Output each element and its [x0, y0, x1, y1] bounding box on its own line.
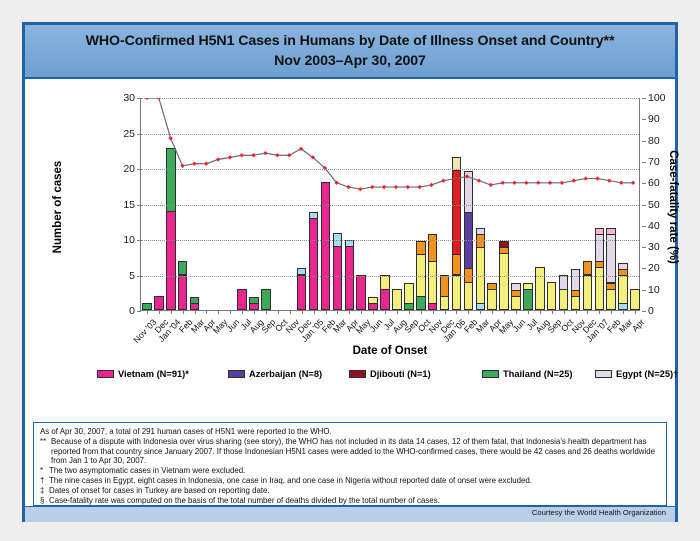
y-axis-right-label: Case-fatality rate (%): [667, 150, 679, 264]
footnote: *The two asymptomatic cases in Vietnam w…: [40, 466, 660, 476]
x-tick-mark: [409, 310, 410, 314]
footnote-marker: ‡: [40, 486, 49, 496]
legend-item[interactable]: Azerbaijan (N=8): [228, 366, 349, 382]
plot-area: Nov '03DecJan '04FebMarAprMayJunJulAugSe…: [140, 98, 640, 311]
y-tick-right: 100: [648, 92, 666, 104]
gridline: [141, 240, 639, 241]
x-tick-mark: [373, 310, 374, 314]
y-tick-left: 5: [129, 270, 135, 282]
legend-item[interactable]: Vietnam (N=91)*: [97, 366, 228, 382]
page-title: WHO-Confirmed H5N1 Cases in Humans by Da…: [25, 31, 675, 71]
x-tick-mark: [278, 310, 279, 314]
x-tick-mark: [552, 310, 553, 314]
x-tick-mark: [337, 310, 338, 314]
x-tick-mark: [599, 310, 600, 314]
x-tick-mark: [468, 310, 469, 314]
x-tick-mark: [326, 310, 327, 314]
x-tick-mark: [349, 310, 350, 314]
x-tick-mark: [314, 310, 315, 314]
x-tick-mark: [195, 310, 196, 314]
x-tick-mark: [445, 310, 446, 314]
footnote-marker: **: [40, 437, 51, 466]
gridline: [141, 134, 639, 135]
x-tick-mark: [230, 310, 231, 314]
y-tick-right: 0: [648, 305, 654, 317]
x-tick-mark: [183, 310, 184, 314]
title-band: WHO-Confirmed H5N1 Cases in Humans by Da…: [25, 25, 675, 79]
gridline: [141, 169, 639, 170]
y-tick-right: 50: [648, 199, 660, 211]
legend-label: Vietnam (N=91)*: [118, 369, 189, 379]
x-tick-mark: [302, 310, 303, 314]
x-tick-mark: [421, 310, 422, 314]
title-line-1: WHO-Confirmed H5N1 Cases in Humans by Da…: [86, 33, 615, 49]
x-tick-mark: [433, 310, 434, 314]
y-tick-left: 0: [129, 305, 135, 317]
x-tick-mark: [492, 310, 493, 314]
footnote: **Because of a dispute with Indonesia ov…: [40, 437, 660, 466]
chart-panel: Number of cases Case-fatality rate (%) D…: [25, 79, 675, 364]
legend: Vietnam (N=91)*Azerbaijan (N=8)Djibouti …: [25, 364, 675, 418]
footnote-marker: *: [40, 466, 49, 476]
legend-item[interactable]: Djibouti (N=1): [349, 366, 482, 382]
legend-swatch: [595, 370, 612, 379]
y-tick-right: 10: [648, 284, 660, 296]
legend-label: Egypt (N=25)†: [616, 369, 678, 379]
title-line-2: Nov 2003–Apr 30, 2007: [25, 51, 675, 71]
x-tick-mark: [266, 310, 267, 314]
y-tick-right: 40: [648, 220, 660, 232]
legend-label: Azerbaijan (N=8): [249, 369, 322, 379]
footnotes: As of Apr 30, 2007, a total of 291 human…: [33, 422, 667, 506]
gridline: [141, 98, 639, 99]
legend-item[interactable]: Thailand (N=25): [482, 366, 595, 382]
footnote-text: The two asymptomatic cases in Vietnam we…: [49, 466, 660, 476]
x-tick-mark: [635, 310, 636, 314]
footnote-text: Dates of onset for cases in Turkey are b…: [49, 486, 660, 496]
y-tick-right: 90: [648, 113, 660, 125]
x-tick-mark: [611, 310, 612, 314]
x-tick-mark: [456, 310, 457, 314]
gridline: [141, 205, 639, 206]
legend-item[interactable]: Egypt (N=25)†: [595, 366, 700, 382]
footnote: ‡Dates of onset for cases in Turkey are …: [40, 486, 660, 496]
y-tick-right: 70: [648, 156, 660, 168]
legend-swatch: [97, 370, 114, 379]
x-tick-mark: [540, 310, 541, 314]
x-tick-label: Nov '03: [131, 317, 158, 345]
gridline: [141, 276, 639, 277]
x-tick-mark: [587, 310, 588, 314]
legend-label: Thailand (N=25): [503, 369, 572, 379]
y-tick-left: 30: [123, 92, 135, 104]
x-tick-mark: [171, 310, 172, 314]
footnote-text: Case-fatality rate was computed on the b…: [49, 496, 660, 506]
footnote-marker: †: [40, 476, 49, 486]
footnote-text: The nine cases in Egypt, eight cases in …: [49, 476, 660, 486]
courtesy-credit: Courtesy the World Health Organization: [532, 508, 666, 517]
footnote: †The nine cases in Egypt, eight cases in…: [40, 476, 660, 486]
footnote: As of Apr 30, 2007, a total of 291 human…: [40, 427, 660, 437]
x-tick-mark: [564, 310, 565, 314]
x-tick-mark: [290, 310, 291, 314]
y-tick-left: 10: [123, 234, 135, 246]
footnote-marker: §: [40, 496, 49, 506]
y-tick-right: 20: [648, 262, 660, 274]
x-tick-mark: [623, 310, 624, 314]
x-tick-mark: [528, 310, 529, 314]
footnote-text: Because of a dispute with Indonesia over…: [51, 437, 660, 466]
infographic-page: WHO-Confirmed H5N1 Cases in Humans by Da…: [0, 0, 700, 541]
legend-swatch: [349, 370, 366, 379]
x-tick-label: Apr: [630, 317, 646, 334]
y-tick-right: 80: [648, 135, 660, 147]
x-axis-label: Date of Onset: [353, 345, 428, 357]
y-tick-left: 15: [123, 199, 135, 211]
y-tick-left: 25: [123, 128, 135, 140]
x-tick-mark: [159, 310, 160, 314]
x-tick-mark: [254, 310, 255, 314]
x-tick-mark: [218, 310, 219, 314]
x-tick-mark: [576, 310, 577, 314]
x-tick-mark: [242, 310, 243, 314]
legend-swatch: [482, 370, 499, 379]
x-tick-mark: [516, 310, 517, 314]
y-tick-right: 60: [648, 177, 660, 189]
legend-swatch: [228, 370, 245, 379]
footnote-text: As of Apr 30, 2007, a total of 291 human…: [40, 427, 660, 437]
x-tick-mark: [147, 310, 148, 314]
legend-label: Djibouti (N=1): [370, 369, 431, 379]
x-tick-mark: [206, 310, 207, 314]
y-tick-left: 20: [123, 163, 135, 175]
x-tick-mark: [480, 310, 481, 314]
y-tick-right: 30: [648, 241, 660, 253]
x-tick-mark: [385, 310, 386, 314]
x-tick-mark: [397, 310, 398, 314]
footnote: §Case-fatality rate was computed on the …: [40, 496, 660, 506]
x-tick-mark: [504, 310, 505, 314]
x-tick-mark: [361, 310, 362, 314]
y-axis-left-label: Number of cases: [52, 161, 64, 254]
